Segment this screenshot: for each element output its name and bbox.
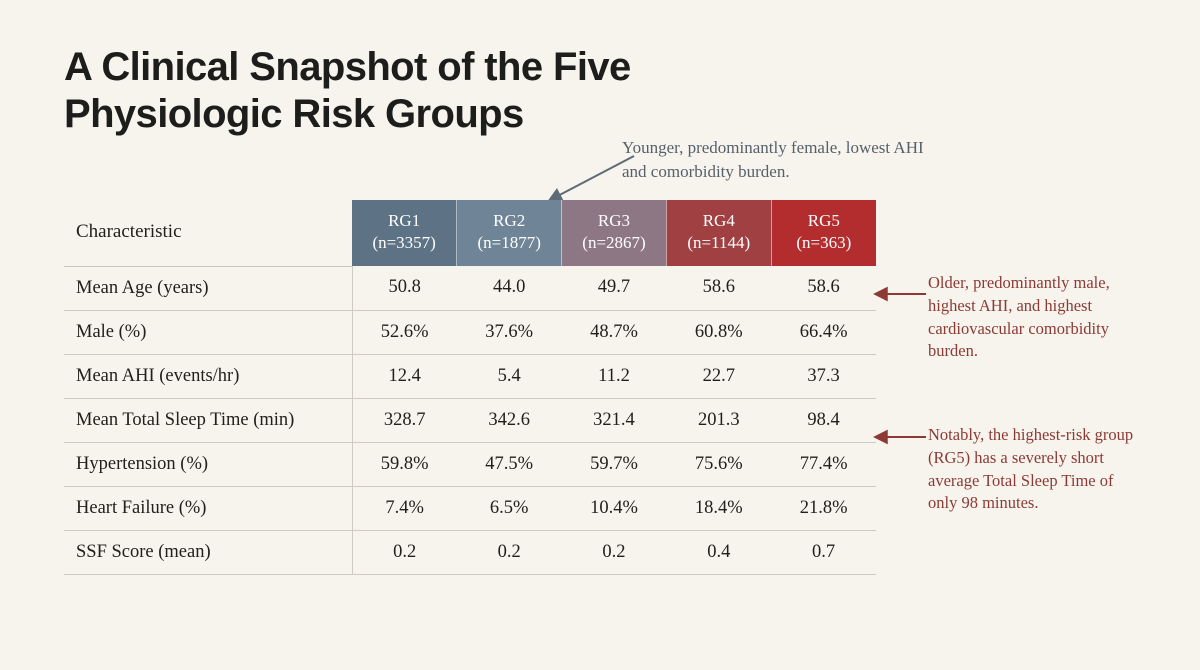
table-cell: 0.2 (562, 530, 667, 574)
row-label: Mean AHI (events/hr) (64, 354, 352, 398)
risk-group-table: Characteristic RG1 (n=3357) RG2 (n=1877)… (64, 200, 876, 575)
table-row: Heart Failure (%)7.4%6.5%10.4%18.4%21.8% (64, 486, 876, 530)
column-header-rg3-name: RG3 (564, 210, 664, 232)
table-cell: 6.5% (457, 486, 562, 530)
column-header-rg3-n: (n=2867) (564, 232, 664, 254)
table-cell: 22.7 (666, 354, 771, 398)
column-header-rg5-name: RG5 (774, 210, 874, 232)
table-cell: 328.7 (352, 398, 457, 442)
table-cell: 58.6 (771, 266, 876, 310)
table-cell: 48.7% (562, 310, 667, 354)
row-label: Mean Age (years) (64, 266, 352, 310)
table-cell: 5.4 (457, 354, 562, 398)
table-cell: 58.6 (666, 266, 771, 310)
column-header-rg4: RG4 (n=1144) (666, 200, 771, 266)
row-label: Male (%) (64, 310, 352, 354)
table-cell: 0.2 (352, 530, 457, 574)
table-cell: 49.7 (562, 266, 667, 310)
annotation-right-bottom-text: Notably, the highest-risk group (RG5) ha… (928, 424, 1143, 515)
table-cell: 37.3 (771, 354, 876, 398)
column-header-rg5: RG5 (n=363) (771, 200, 876, 266)
table-cell: 98.4 (771, 398, 876, 442)
table-cell: 37.6% (457, 310, 562, 354)
risk-group-table-wrapper: Characteristic RG1 (n=3357) RG2 (n=1877)… (64, 200, 876, 575)
table-cell: 59.8% (352, 442, 457, 486)
column-header-rg1-n: (n=3357) (354, 232, 454, 254)
row-label: SSF Score (mean) (64, 530, 352, 574)
table-cell: 12.4 (352, 354, 457, 398)
row-label: Hypertension (%) (64, 442, 352, 486)
column-header-rg2: RG2 (n=1877) (457, 200, 562, 266)
column-header-rg2-name: RG2 (459, 210, 559, 232)
table-cell: 21.8% (771, 486, 876, 530)
table-cell: 50.8 (352, 266, 457, 310)
column-header-characteristic: Characteristic (64, 200, 352, 266)
table-cell: 321.4 (562, 398, 667, 442)
table-row: Mean Age (years)50.844.049.758.658.6 (64, 266, 876, 310)
table-row: Hypertension (%)59.8%47.5%59.7%75.6%77.4… (64, 442, 876, 486)
row-label: Heart Failure (%) (64, 486, 352, 530)
table-cell: 52.6% (352, 310, 457, 354)
row-label: Mean Total Sleep Time (min) (64, 398, 352, 442)
column-header-rg5-n: (n=363) (774, 232, 874, 254)
page-title: A Clinical Snapshot of the Five Physiolo… (64, 44, 724, 138)
table-cell: 10.4% (562, 486, 667, 530)
table-cell: 75.6% (666, 442, 771, 486)
annotation-top-text: Younger, predominantly female, lowest AH… (622, 136, 952, 184)
table-cell: 66.4% (771, 310, 876, 354)
table-header: Characteristic RG1 (n=3357) RG2 (n=1877)… (64, 200, 876, 266)
table-cell: 201.3 (666, 398, 771, 442)
table-cell: 0.2 (457, 530, 562, 574)
table-cell: 47.5% (457, 442, 562, 486)
table-cell: 59.7% (562, 442, 667, 486)
table-cell: 0.4 (666, 530, 771, 574)
column-header-rg1: RG1 (n=3357) (352, 200, 457, 266)
table-row: Male (%)52.6%37.6%48.7%60.8%66.4% (64, 310, 876, 354)
table-body: Mean Age (years)50.844.049.758.658.6Male… (64, 266, 876, 574)
table-cell: 11.2 (562, 354, 667, 398)
column-header-rg3: RG3 (n=2867) (562, 200, 667, 266)
table-cell: 60.8% (666, 310, 771, 354)
infographic-page: A Clinical Snapshot of the Five Physiolo… (0, 0, 1200, 670)
column-header-rg1-name: RG1 (354, 210, 454, 232)
table-row: Mean Total Sleep Time (min)328.7342.6321… (64, 398, 876, 442)
table-cell: 18.4% (666, 486, 771, 530)
table-cell: 77.4% (771, 442, 876, 486)
table-cell: 7.4% (352, 486, 457, 530)
table-cell: 342.6 (457, 398, 562, 442)
table-row: SSF Score (mean)0.20.20.20.40.7 (64, 530, 876, 574)
table-header-row: Characteristic RG1 (n=3357) RG2 (n=1877)… (64, 200, 876, 266)
column-header-rg4-name: RG4 (669, 210, 769, 232)
table-row: Mean AHI (events/hr)12.45.411.222.737.3 (64, 354, 876, 398)
column-header-rg2-n: (n=1877) (459, 232, 559, 254)
table-cell: 44.0 (457, 266, 562, 310)
column-header-rg4-n: (n=1144) (669, 232, 769, 254)
annotation-right-top-text: Older, predominantly male, highest AHI, … (928, 272, 1143, 363)
table-cell: 0.7 (771, 530, 876, 574)
